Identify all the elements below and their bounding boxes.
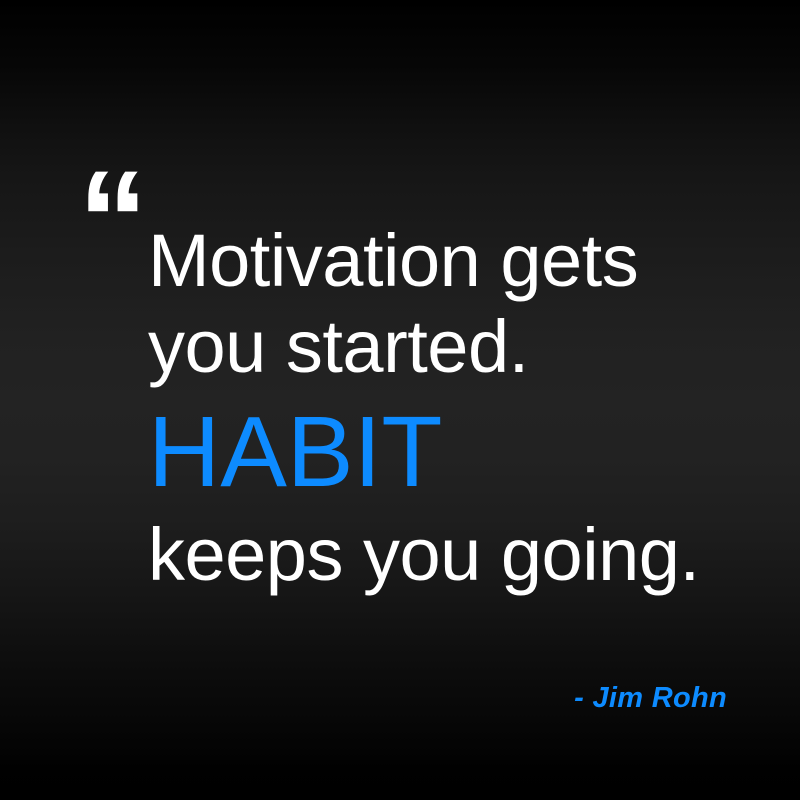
quote-attribution: - Jim Rohn — [574, 681, 727, 715]
open-quote-icon: “ — [78, 150, 146, 290]
quote-line-3-emphasis: HABIT — [148, 396, 768, 508]
quote-line-2: you started. — [148, 304, 768, 390]
quote-line-4: keeps you going. — [148, 512, 768, 598]
quote-poster: “ Motivation gets you started. HABIT kee… — [0, 0, 800, 800]
quote-line-1: Motivation gets — [148, 218, 768, 304]
quote-text-block: Motivation gets you started. HABIT keeps… — [148, 218, 768, 598]
